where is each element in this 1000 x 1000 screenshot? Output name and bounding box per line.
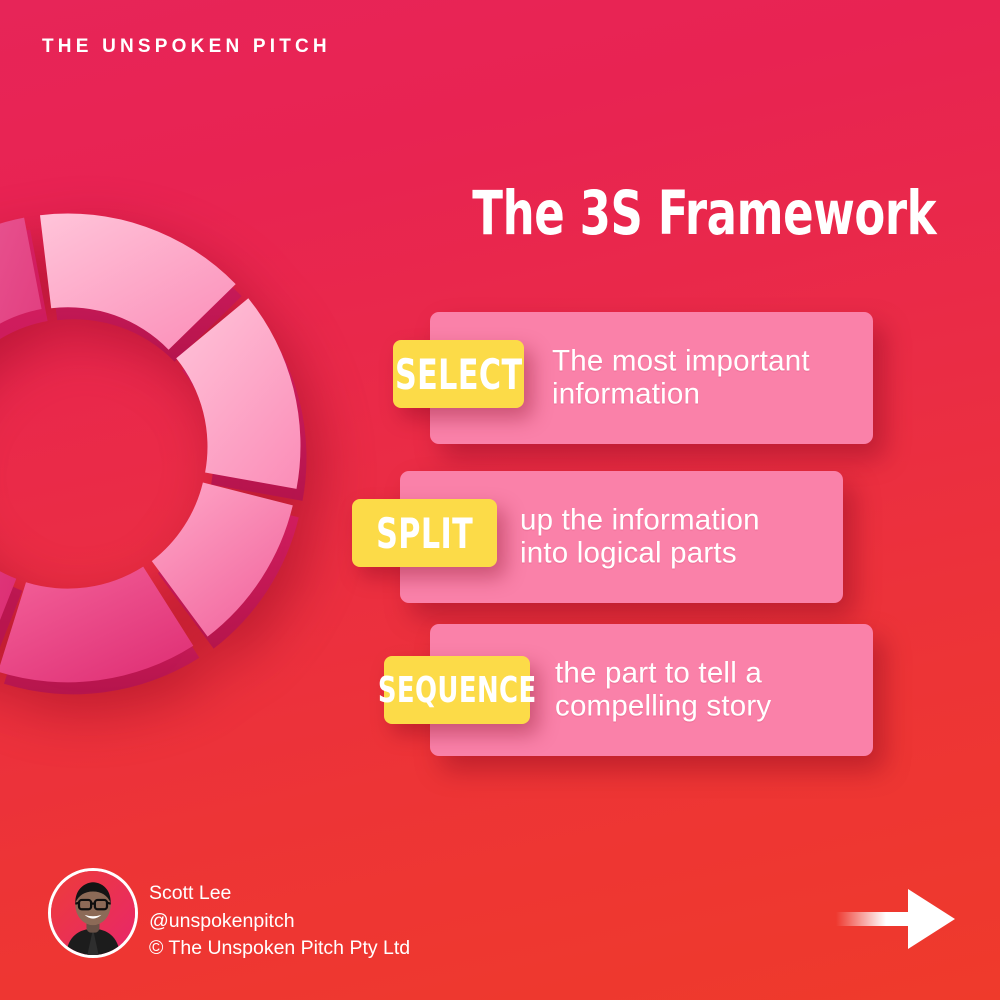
- card-text-line1: up the information: [520, 504, 840, 537]
- card-text-line2: information: [552, 378, 862, 411]
- badge-select: SELECT: [393, 340, 524, 408]
- card-text: up the information into logical parts: [520, 504, 840, 571]
- badge-sequence: SEQUENCE: [384, 656, 530, 724]
- footer-name: Scott Lee: [149, 880, 410, 908]
- avatar: [48, 868, 138, 958]
- card-text-line2: compelling story: [555, 690, 865, 723]
- card-text: The most important information: [552, 345, 862, 412]
- footer-credit: Scott Lee @unspokenpitch © The Unspoken …: [149, 880, 410, 963]
- badge-split: SPLIT: [352, 499, 497, 567]
- brand-kicker: THE UNSPOKEN PITCH: [42, 36, 331, 58]
- card-text-line2: into logical parts: [520, 537, 840, 570]
- next-arrow-icon[interactable]: [836, 884, 956, 954]
- badge-label: SPLIT: [376, 509, 473, 558]
- slide-canvas: THE UNSPOKEN PITCH: [0, 0, 1000, 1000]
- donut-chart-graphic: [0, 168, 348, 728]
- badge-label: SELECT: [395, 350, 523, 399]
- card-text: the part to tell a compelling story: [555, 657, 865, 724]
- badge-label: SEQUENCE: [378, 670, 537, 711]
- card-text-line1: the part to tell a: [555, 657, 865, 690]
- card-text-line1: The most important: [552, 345, 862, 378]
- footer-copyright: © The Unspoken Pitch Pty Ltd: [149, 935, 410, 963]
- footer-handle: @unspokenpitch: [149, 908, 410, 936]
- page-title: The 3S Framework: [472, 183, 857, 245]
